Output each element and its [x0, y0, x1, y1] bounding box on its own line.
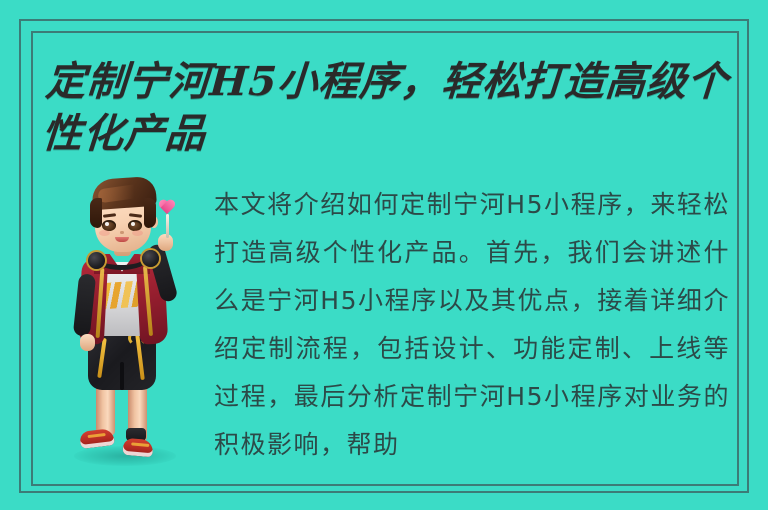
headphone-earcup-right: [142, 250, 159, 267]
nose: [120, 231, 124, 234]
hair-side-right: [144, 198, 156, 228]
shorts-split: [120, 362, 124, 390]
eye-highlight: [105, 222, 109, 226]
hair-side-left: [90, 198, 102, 228]
heart-lollipop-icon: [158, 200, 177, 217]
headphone-earcup-left: [88, 252, 105, 269]
poster-canvas: 定制宁河H5小程序，轻松打造高级个性化产品: [0, 0, 768, 510]
character-illustration: [62, 178, 190, 478]
hand-left: [80, 334, 95, 351]
poster-title: 定制宁河H5小程序，轻松打造高级个性化产品: [40, 56, 747, 160]
blush-right: [132, 230, 143, 236]
sneaker-right: [122, 438, 153, 458]
sneaker-stripe: [131, 442, 149, 447]
sneaker-stripe: [88, 433, 106, 438]
poster-body-text: 本文将介绍如何定制宁河H5小程序，来轻松打造高级个性化产品。首先，我们会讲述什么…: [214, 181, 730, 469]
blush-left: [99, 230, 110, 236]
eye-highlight: [131, 222, 135, 226]
lollipop-stick: [166, 214, 169, 238]
shorts-stripe: [97, 338, 107, 378]
